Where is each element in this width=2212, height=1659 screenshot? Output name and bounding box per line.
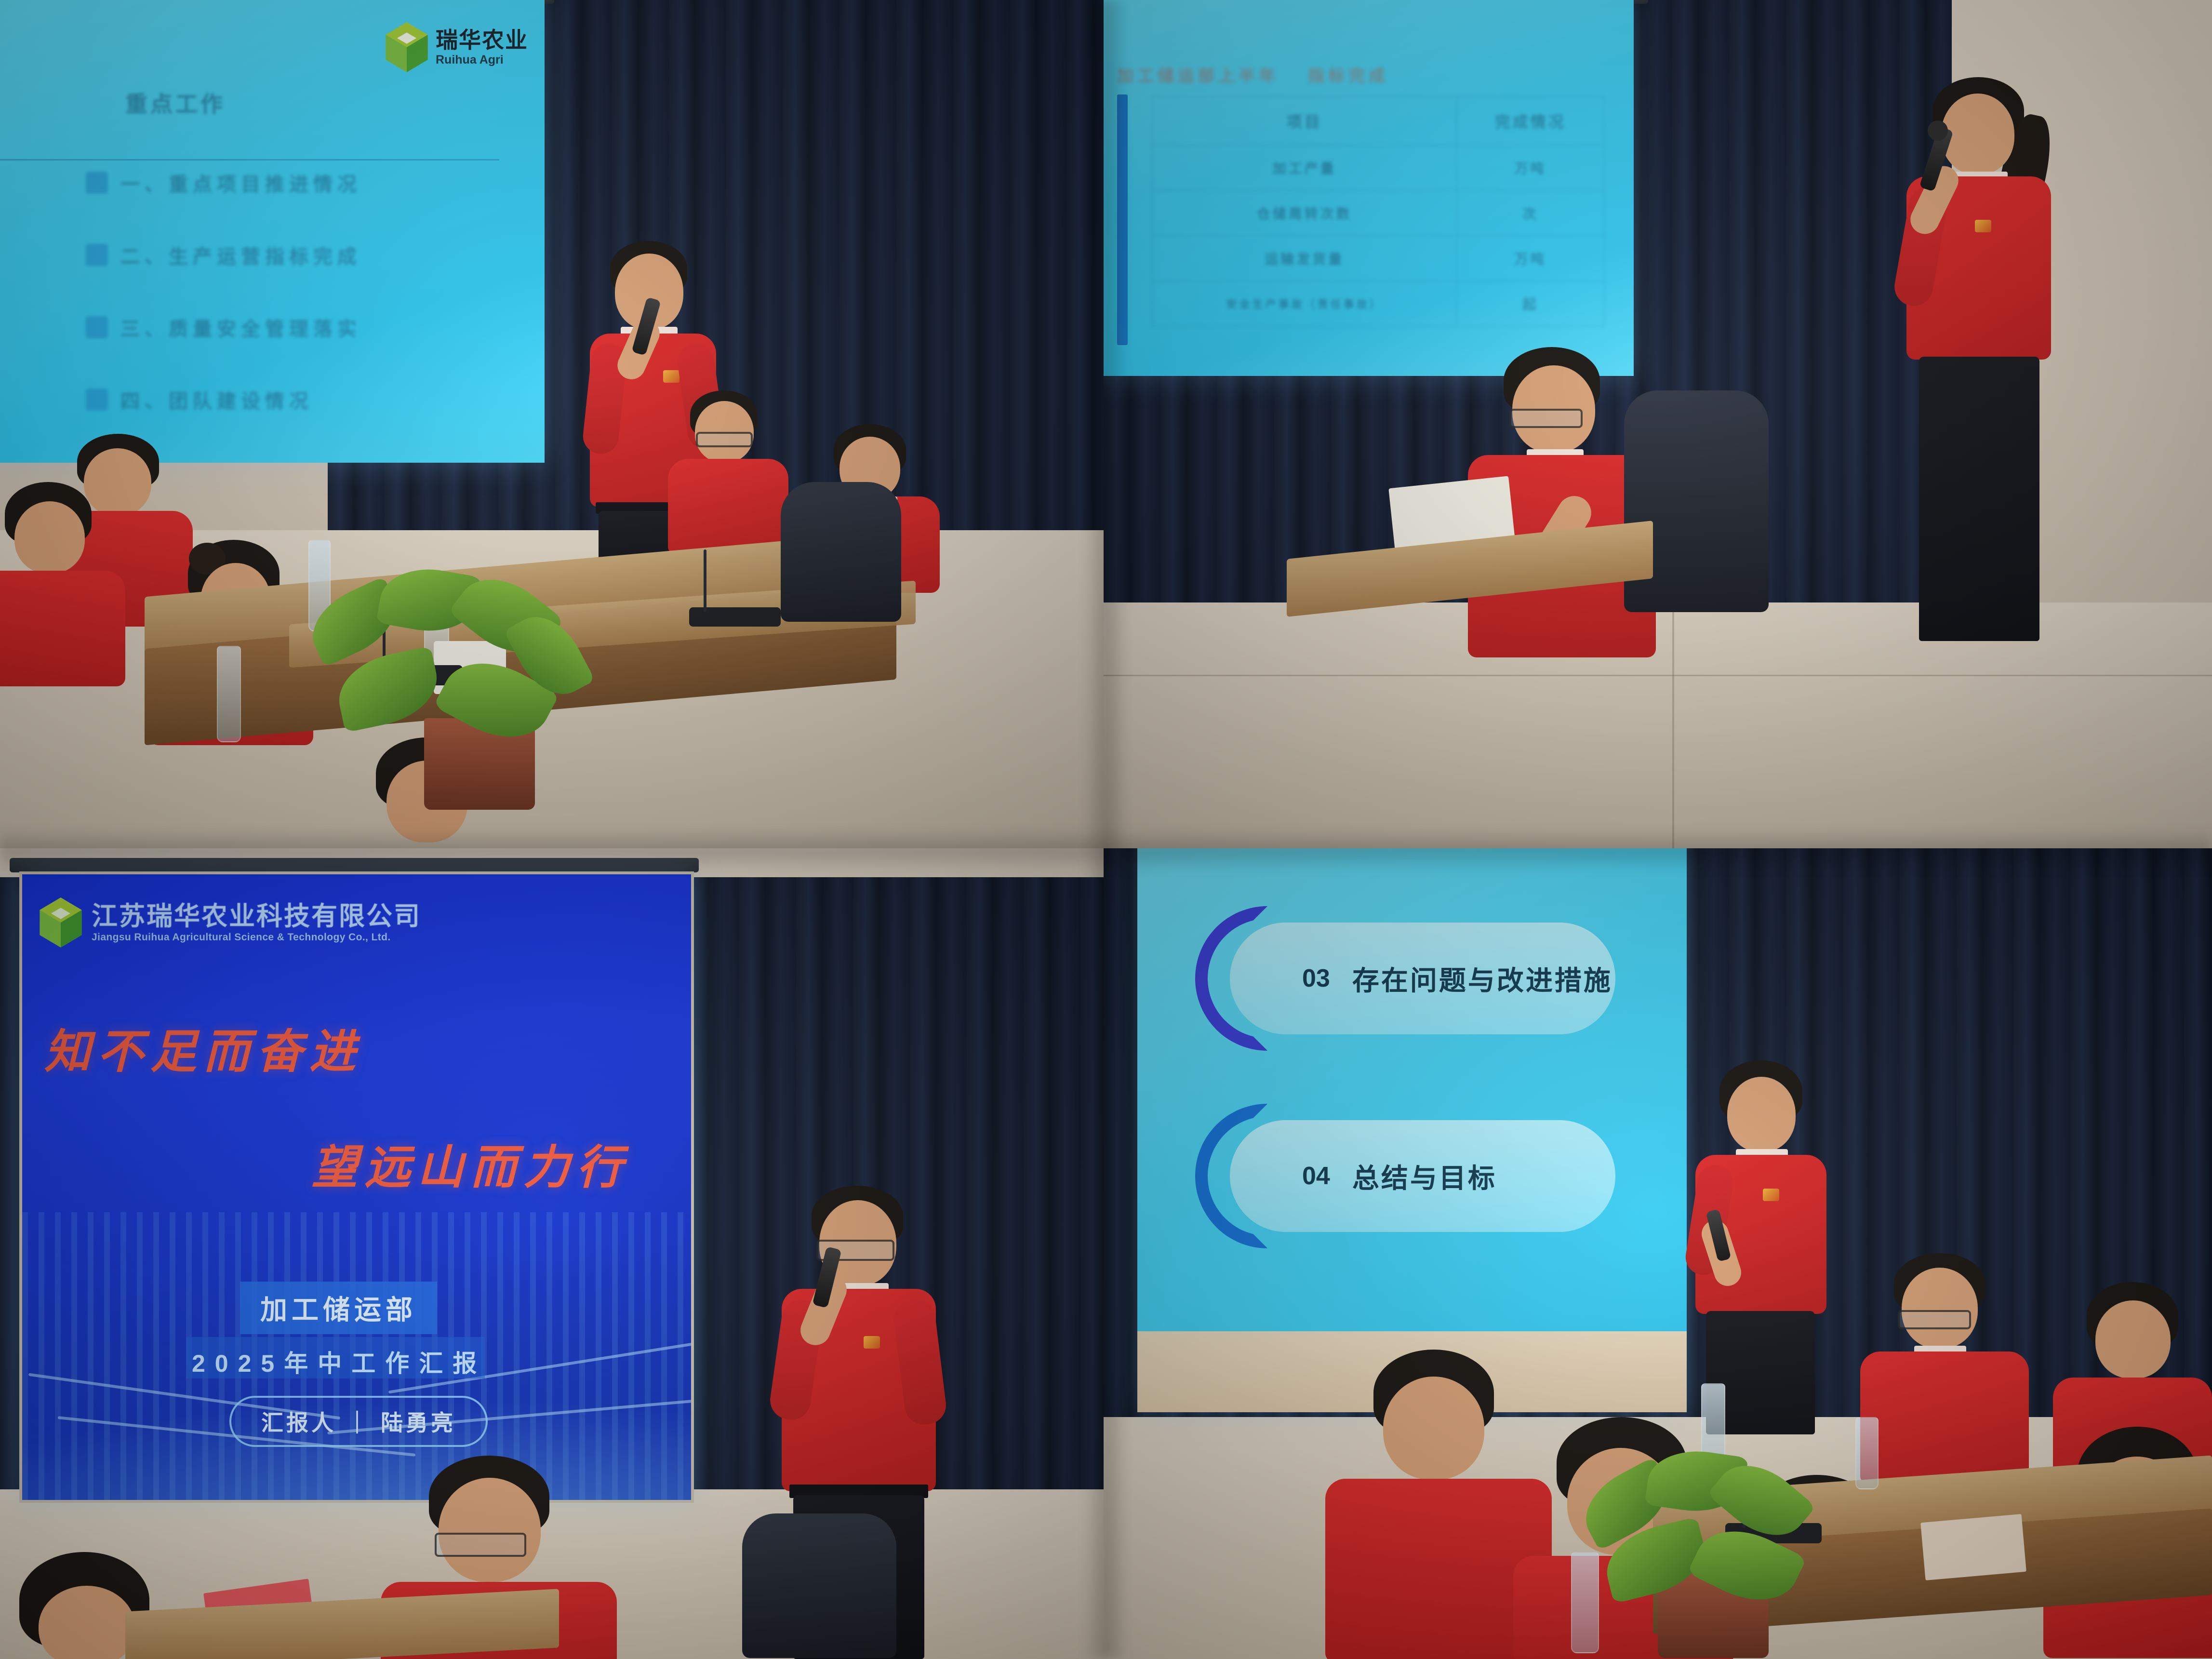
table-row: 项目 完成情况 — [1152, 97, 1604, 145]
table-cell: 起 — [1456, 281, 1604, 326]
table-row: 安全生产事故（责任事故） 起 — [1152, 281, 1604, 326]
agenda-number: 03 — [1302, 964, 1330, 993]
table-cell: 安全生产事故（责任事故） — [1152, 281, 1456, 326]
table-cell: 运输发货量 — [1152, 236, 1456, 281]
collage-pane-top-right: 加工储运部上半年 指标完成 项目 完成情况 加工产量 万吨 — [1104, 0, 2212, 848]
department-label: 加工储运部 — [240, 1282, 437, 1334]
bullet-item-2: 二、生产运营指标完成 — [120, 241, 361, 269]
table-row: 运输发货量 万吨 — [1152, 236, 1604, 281]
slide-company-logo: 江苏瑞华农业科技有限公司 Jiangsu Ruihua Agricultural… — [39, 896, 421, 950]
calligraphy-line-1: 知不足而奋进 — [44, 1014, 362, 1081]
table-cell: 万吨 — [1456, 145, 1604, 190]
ruihua-hex-logo-icon — [385, 20, 429, 74]
bullet-marker-icon — [86, 316, 108, 338]
slide-brand-logo: 瑞华农业 Ruihua Agri — [385, 20, 528, 74]
metrics-table: 项目 完成情况 加工产量 万吨 仓储周转次数 次 — [1152, 96, 1605, 327]
projection-screen-top-right: 加工储运部上半年 指标完成 项目 完成情况 加工产量 万吨 — [1104, 0, 1634, 376]
screen-roller-bar — [10, 858, 699, 872]
presenter-chip: 汇报人 ｜ 陆勇亮 — [229, 1396, 488, 1447]
table-row: 仓储周转次数 次 — [1152, 190, 1604, 236]
calligraphy-line-2: 望远山而力行 — [311, 1130, 629, 1197]
table-cell: 加工产量 — [1152, 145, 1456, 190]
projection-screen-bottom-right: 03 存在问题与改进措施 04 总结与目标 — [1137, 848, 1687, 1412]
office-chair — [742, 1513, 896, 1658]
presenter-standing-bottom-right — [1672, 1060, 1846, 1436]
presenter-divider: ｜ — [346, 1405, 371, 1437]
collage-pane-bottom-right: 03 存在问题与改进措施 04 总结与目标 — [1104, 848, 2212, 1659]
water-bottle — [217, 646, 241, 742]
office-chair — [781, 482, 901, 622]
document-paper — [1920, 1514, 2026, 1580]
bullet-marker-icon — [86, 388, 108, 411]
photo-collage: 瑞华农业 Ruihua Agri 重点工作 一、重点项目推进情况 二、生产运营指… — [0, 0, 2212, 1659]
slide-title: 江苏瑞华农业科技有限公司 Jiangsu Ruihua Agricultural… — [22, 874, 691, 1500]
table-cell: 万吨 — [1456, 236, 1604, 281]
floor-tile-line — [1104, 675, 2212, 676]
presenter-standing-top-right — [1875, 77, 2077, 646]
table-cell: 仓储周转次数 — [1152, 190, 1456, 236]
bullet-item-4: 四、团队建设情况 — [120, 386, 313, 414]
projection-screen-bottom-left: 江苏瑞华农业科技有限公司 Jiangsu Ruihua Agricultural… — [19, 871, 694, 1503]
agenda-item-04: 04 总结与目标 — [1195, 1104, 1615, 1248]
company-name-en: Jiangsu Ruihua Agricultural Science & Te… — [92, 932, 421, 942]
projection-screen-top-left: 瑞华农业 Ruihua Agri 重点工作 一、重点项目推进情况 二、生产运营指… — [0, 0, 545, 463]
attendee-seated-5 — [0, 482, 140, 684]
slide-top-right: 加工储运部上半年 指标完成 项目 完成情况 加工产量 万吨 — [1104, 0, 1634, 376]
report-title: 2025年中工作汇报 — [192, 1344, 486, 1379]
agenda-label: 存在问题与改进措施 — [1352, 959, 1612, 998]
agenda-number: 04 — [1302, 1162, 1330, 1191]
desk-microphone-base — [689, 607, 781, 627]
slide-agenda: 03 存在问题与改进措施 04 总结与目标 — [1137, 848, 1687, 1412]
ruihua-hex-logo-icon — [39, 896, 83, 950]
agenda-label: 总结与目标 — [1352, 1157, 1497, 1196]
presenter-label: 汇报人 — [261, 1405, 336, 1437]
table-header-0: 项目 — [1152, 97, 1456, 145]
drinking-cup — [1855, 1417, 1879, 1489]
table-slide-title-left: 加工储运部上半年 — [1117, 63, 1279, 86]
bullet-marker-icon — [86, 172, 108, 194]
bullet-item-3: 三、质量安全管理落实 — [120, 313, 361, 341]
slide-top-left: 瑞华农业 Ruihua Agri 重点工作 一、重点项目推进情况 二、生产运营指… — [0, 0, 545, 463]
slide-heading: 重点工作 — [125, 87, 226, 119]
agenda-item-03: 03 存在问题与改进措施 — [1195, 906, 1615, 1051]
slide-divider-line — [0, 159, 499, 161]
bullet-item-1: 一、重点项目推进情况 — [120, 169, 361, 197]
table-row: 加工产量 万吨 — [1152, 145, 1604, 190]
collage-pane-top-left: 瑞华农业 Ruihua Agri 重点工作 一、重点项目推进情况 二、生产运营指… — [0, 0, 1104, 848]
brand-name-cn: 瑞华农业 — [436, 29, 528, 51]
presenter-name: 陆勇亮 — [381, 1405, 456, 1437]
table-header-1: 完成情况 — [1456, 97, 1604, 145]
table-cell: 次 — [1456, 190, 1604, 236]
collage-pane-bottom-left: 江苏瑞华农业科技有限公司 Jiangsu Ruihua Agricultural… — [0, 848, 1104, 1659]
brand-name-en: Ruihua Agri — [436, 54, 528, 66]
table-slide-title-right: 指标完成 — [1308, 63, 1389, 86]
company-name-cn: 江苏瑞华农业科技有限公司 — [92, 903, 421, 929]
bullet-marker-icon — [86, 244, 108, 266]
slide-accent-bar — [1117, 94, 1128, 345]
water-bottle — [1571, 1552, 1599, 1653]
